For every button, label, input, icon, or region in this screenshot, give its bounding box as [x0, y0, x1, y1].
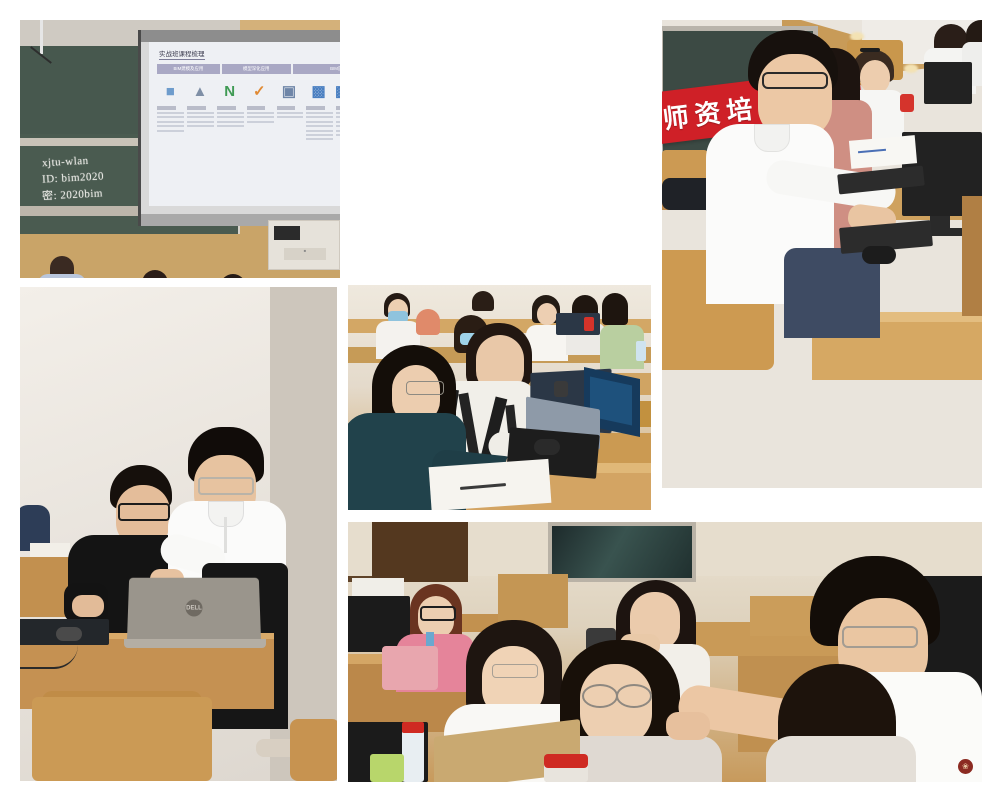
pink-pouch [382, 646, 438, 690]
chair-right [290, 719, 337, 781]
bottle-cap [544, 754, 588, 768]
desktop-monitor [924, 62, 972, 104]
person-hair [416, 309, 440, 335]
person-hair [602, 293, 628, 325]
red-bottle [584, 317, 594, 331]
photo-lecture-hall[interactable]: xjtu-wlan ID: bim2020 密: 2020bim 实战班课程梳理… [20, 20, 340, 278]
mouse [862, 246, 896, 264]
hand [72, 595, 104, 617]
red-bottle [900, 94, 914, 112]
chalk-line-1: xjtu-wlan [42, 155, 89, 169]
glasses-icon [198, 477, 254, 495]
bottle [636, 341, 646, 361]
slide-icon-navisworks: N [216, 78, 243, 104]
slide-col [277, 106, 304, 200]
hand [666, 712, 710, 740]
dell-laptop: DELL [127, 578, 261, 646]
person-body [766, 736, 916, 782]
collar [754, 124, 790, 152]
slide-col [187, 106, 214, 200]
green-cup [370, 754, 404, 782]
slide-section-1: BIM建模及应用 [157, 64, 220, 74]
photo-group-assist[interactable]: I's Monayagan [348, 522, 982, 782]
slide-icon-plugin: ▲ [187, 78, 214, 104]
mouse [534, 439, 560, 455]
slide-icon-sim: ▩ [305, 78, 332, 104]
photo-banner-room[interactable]: 师资培训 [662, 20, 982, 488]
watermark-badge: ❀ [958, 759, 973, 774]
window [548, 522, 696, 582]
slide-icon-cost: ▩▩ [335, 78, 340, 104]
photo-two-men-laptop[interactable]: DELL [20, 287, 337, 781]
glasses-icon [842, 626, 918, 648]
person-hair [472, 291, 494, 311]
phone [554, 381, 568, 397]
mouse [56, 627, 82, 641]
slide-icon-lumion: ▣ [276, 78, 303, 104]
glasses-icon [492, 664, 538, 678]
photo-collage: xjtu-wlan ID: bim2020 密: 2020bim 实战班课程梳理… [0, 0, 1002, 802]
bottle-cap [402, 722, 424, 733]
slide-col [306, 106, 333, 200]
water-bottle [402, 730, 424, 782]
slide-section-3: BIM施工应用 [293, 64, 340, 74]
slide-section-2: 模型深化应用 [222, 64, 291, 74]
person-head [860, 60, 890, 94]
glasses-icon [762, 72, 828, 89]
slide-col [336, 106, 340, 200]
photo-computer-lab[interactable] [348, 285, 651, 510]
slide-col [157, 106, 184, 200]
glasses-icon [616, 684, 652, 708]
dell-logo: DELL [185, 600, 202, 617]
slide-col [217, 106, 244, 200]
slide-title: 实战班课程梳理 [159, 48, 205, 60]
background-desk [20, 557, 70, 617]
glasses-icon [406, 381, 444, 395]
projection-screen: 实战班课程梳理 PMS BIM建模及应用 模型深化应用 BIM施工应用 ■ ▲ … [138, 30, 340, 226]
glasses-icon [118, 503, 170, 521]
glasses-icon [582, 684, 618, 708]
slide-icon-fuzor: ✓ [246, 78, 273, 104]
slide-icon-revit: ■ [157, 78, 184, 104]
chalk-line-3: 密: 2020bim [42, 184, 104, 203]
slide-col [247, 106, 274, 200]
glasses-icon [420, 606, 456, 621]
papers [352, 578, 404, 596]
person-head [537, 303, 557, 325]
